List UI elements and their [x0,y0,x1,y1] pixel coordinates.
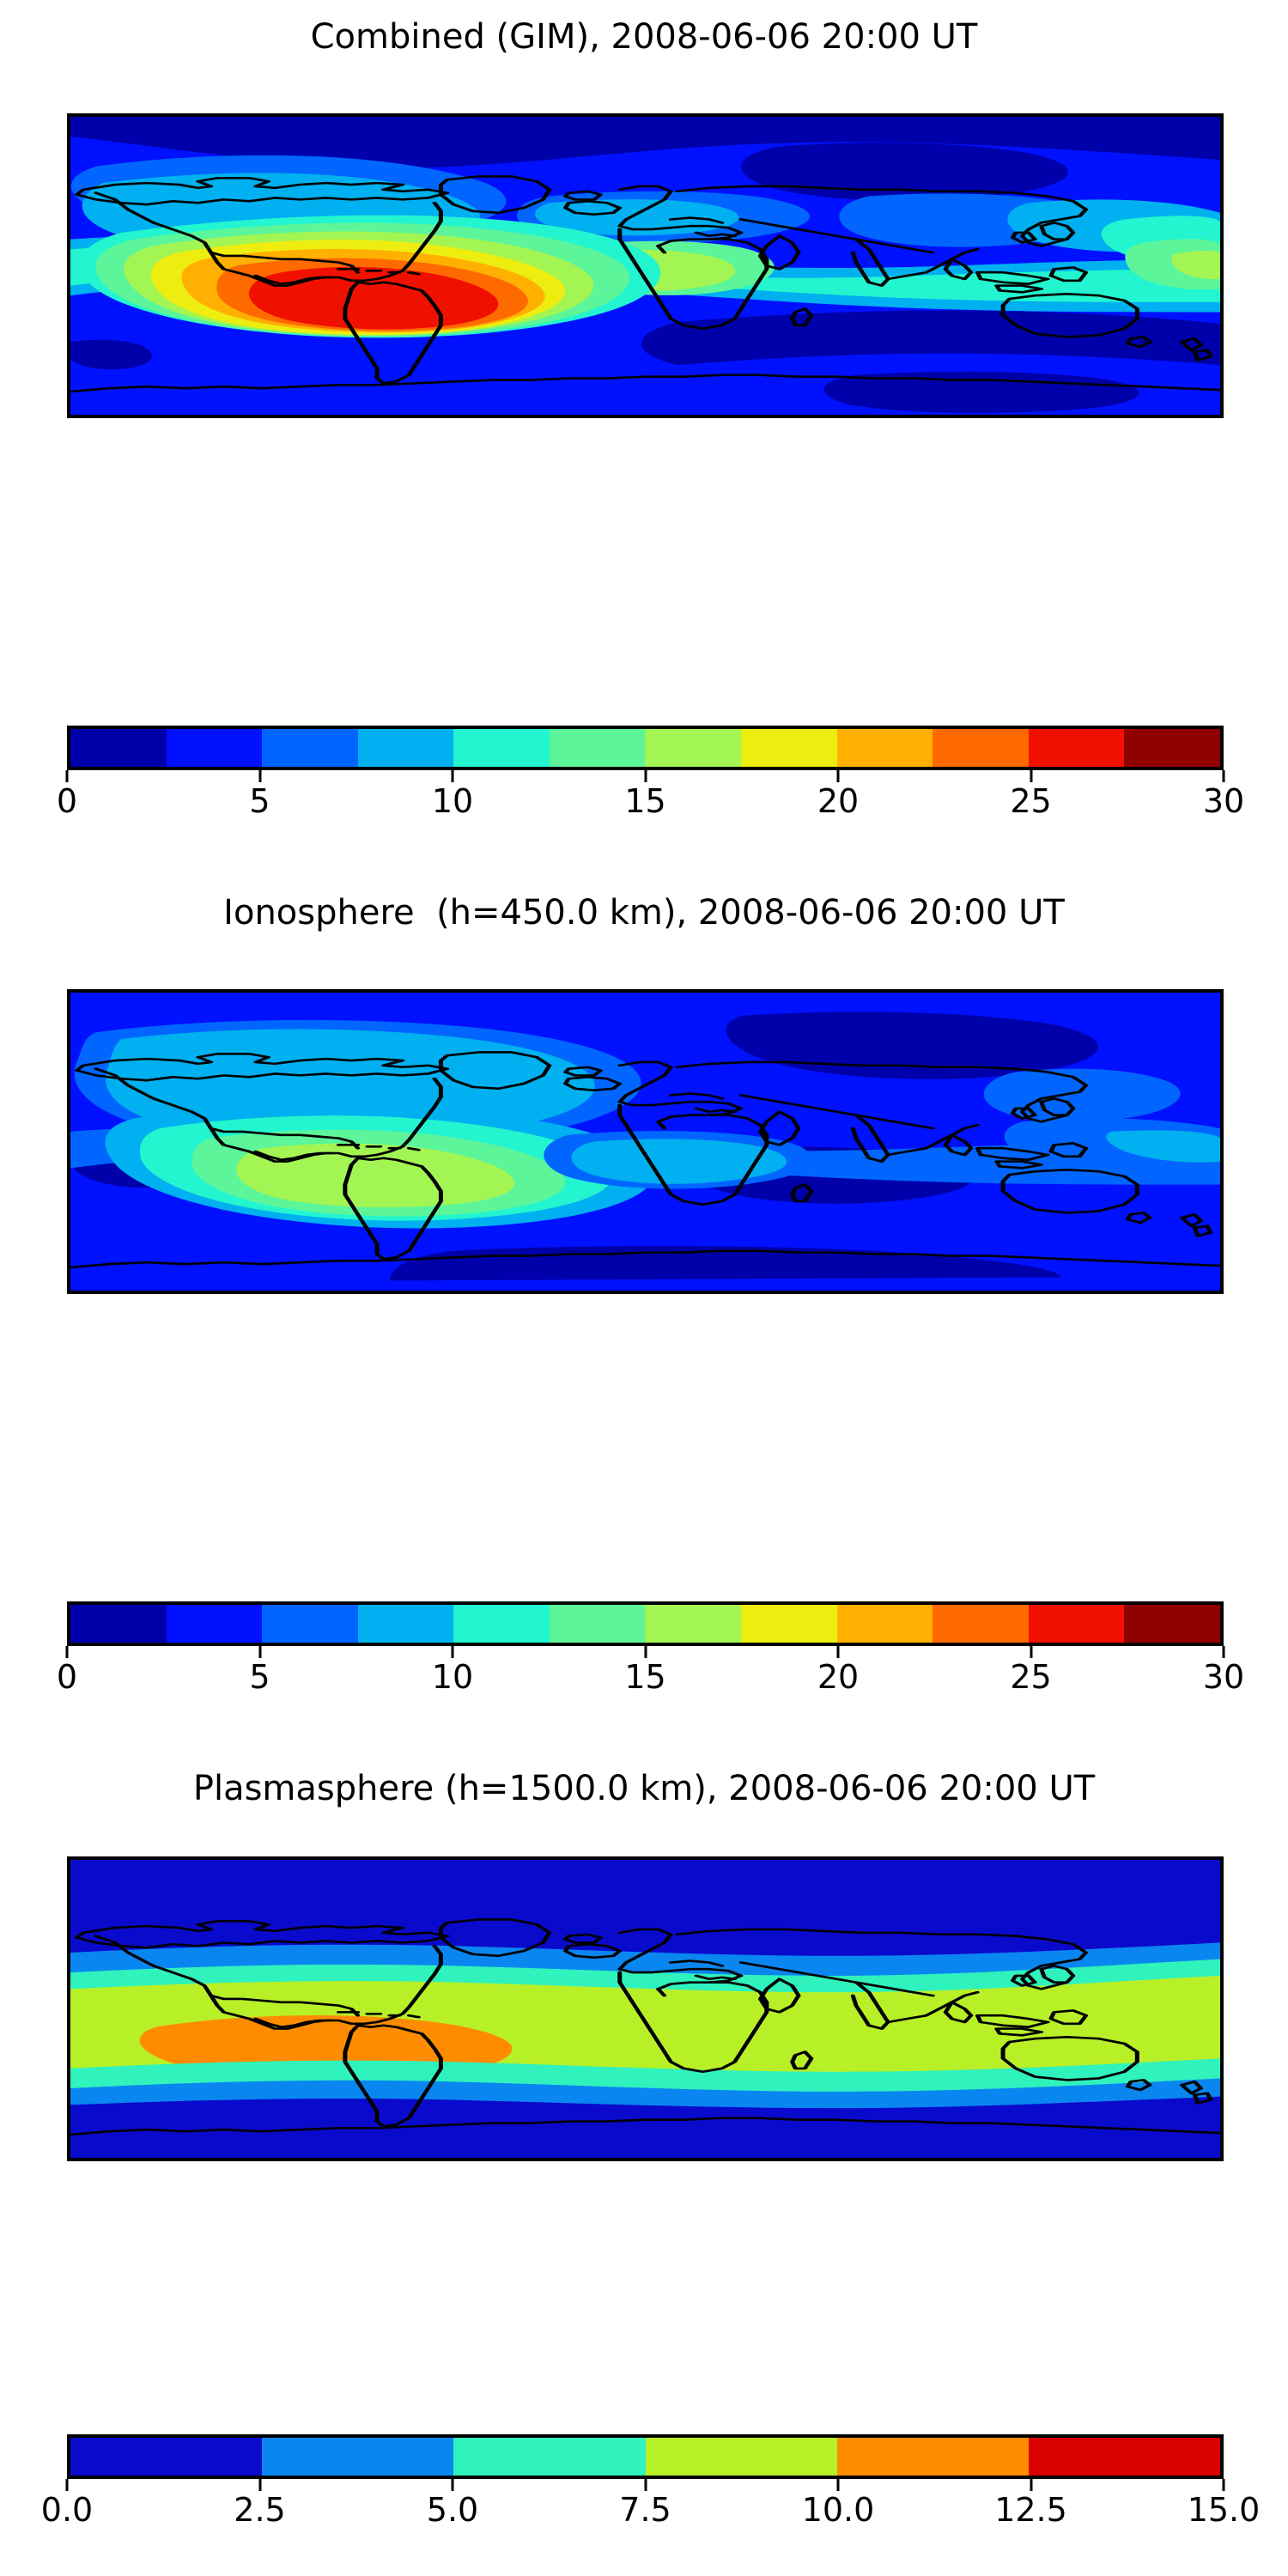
colorbar-segment [453,1605,550,1643]
colorbar-tick-label: 15 [624,782,665,820]
colorbar-segment [70,2438,262,2476]
colorbar-segment [358,1605,454,1643]
colorbar-bar-combined [67,726,1224,770]
colorbar-tick-label: 10.0 [802,2491,875,2529]
colorbar-tick [258,770,261,782]
colorbar-combined: 051015202530 [67,726,1224,822]
colorbar-tick-label: 15.0 [1188,2491,1261,2529]
colorbar-ticks-ionosphere [67,1646,1224,1658]
panel-title-plasmasphere: Plasmasphere (h=1500.0 km), 2008-06-06 2… [0,1769,1288,1808]
colorbar-ionosphere: 051015202530 [67,1601,1224,1698]
map-ionosphere [67,989,1224,1294]
colorbar-tick [258,1646,261,1658]
colorbar-tick [66,2479,69,2491]
colorbar-segment [70,1605,167,1643]
colorbar-tick [1030,770,1032,782]
colorbar-tick [1030,2479,1032,2491]
colorbar-segment [167,729,263,767]
colorbar-tick [1223,770,1225,782]
colorbar-tick [837,770,840,782]
colorbar-tick-label: 30 [1203,1658,1244,1696]
colorbar-tick-label: 15 [624,1658,665,1696]
colorbar-tick [1030,1646,1032,1658]
colorbar-plasmasphere: 0.02.55.07.510.012.515.0 [67,2434,1224,2530]
colorbar-segment [1029,729,1125,767]
colorbar-segment [1029,2438,1220,2476]
colorbar-segment [1124,729,1220,767]
colorbar-segment [453,2438,645,2476]
colorbar-segment [837,1605,933,1643]
colorbar-tick [644,1646,647,1658]
colorbar-segment [645,1605,741,1643]
colorbar-tick-label: 12.5 [994,2491,1067,2529]
colorbar-tick [258,2479,261,2491]
colorbar-segment [1029,1605,1125,1643]
colorbar-segment [262,1605,358,1643]
colorbar-segment [358,729,454,767]
colorbar-segment [262,729,358,767]
map-svg-combined [70,117,1220,415]
colorbar-tick [1223,2479,1225,2491]
colorbar-tick-label: 10 [432,1658,473,1696]
colorbar-labels-ionosphere: 051015202530 [67,1658,1224,1698]
panel-plasmasphere: Plasmasphere (h=1500.0 km), 2008-06-06 2… [0,1752,1288,2576]
colorbar-segment [1124,1605,1220,1643]
colorbar-tick-label: 7.5 [619,2491,671,2529]
colorbar-tick-label: 30 [1203,782,1244,820]
colorbar-tick-label: 10 [432,782,473,820]
colorbar-segment [837,729,933,767]
colorbar-segment [933,1605,1029,1643]
colorbar-tick-label: 0.0 [41,2491,93,2529]
map-combined-gim [67,113,1224,418]
colorbar-segment [646,2438,837,2476]
colorbar-bar-plasmasphere [67,2434,1224,2479]
panel-title-combined: Combined (GIM), 2008-06-06 20:00 UT [0,17,1288,57]
colorbar-labels-plasmasphere: 0.02.55.07.510.012.515.0 [67,2491,1224,2530]
colorbar-segment [550,1605,646,1643]
colorbar-tick-label: 0 [57,782,77,820]
colorbar-tick-label: 2.5 [234,2491,285,2529]
colorbar-tick [644,2479,647,2491]
colorbar-tick [1223,1646,1225,1658]
colorbar-labels-combined: 051015202530 [67,782,1224,822]
panel-title-ionosphere: Ionosphere (h=450.0 km), 2008-06-06 20:0… [0,893,1288,933]
colorbar-tick [644,770,647,782]
colorbar-tick-label: 25 [1010,782,1051,820]
colorbar-segment [837,2438,1029,2476]
panel-combined-gim: Combined (GIM), 2008-06-06 20:00 UT [0,0,1288,859]
colorbar-segment [933,729,1029,767]
panel-ionosphere: Ionosphere (h=450.0 km), 2008-06-06 20:0… [0,876,1288,1735]
colorbar-tick-label: 20 [817,782,859,820]
colorbar-tick-label: 5 [249,782,270,820]
colorbar-tick-label: 20 [817,1658,859,1696]
map-svg-plasmasphere [70,1860,1220,2158]
colorbar-tick-label: 25 [1010,1658,1051,1696]
colorbar-tick-label: 5.0 [427,2491,478,2529]
colorbar-segment [741,729,837,767]
colorbar-segment [645,729,741,767]
colorbar-tick [837,1646,840,1658]
figure-canvas: Combined (GIM), 2008-06-06 20:00 UT [0,0,1288,2576]
colorbar-tick [66,1646,69,1658]
colorbar-tick [66,770,69,782]
colorbar-segment [741,1605,837,1643]
colorbar-tick [452,1646,454,1658]
colorbar-ticks-combined [67,770,1224,782]
colorbar-ticks-plasmasphere [67,2479,1224,2491]
colorbar-bar-ionosphere [67,1601,1224,1646]
colorbar-segment [262,2438,453,2476]
colorbar-segment [167,1605,263,1643]
colorbar-tick [452,770,454,782]
colorbar-tick [452,2479,454,2491]
colorbar-segment [453,729,550,767]
map-plasmasphere [67,1856,1224,2161]
colorbar-tick-label: 0 [57,1658,77,1696]
colorbar-segment [550,729,646,767]
colorbar-tick [837,2479,840,2491]
map-svg-ionosphere [70,993,1220,1291]
colorbar-tick-label: 5 [249,1658,270,1696]
colorbar-segment [70,729,167,767]
